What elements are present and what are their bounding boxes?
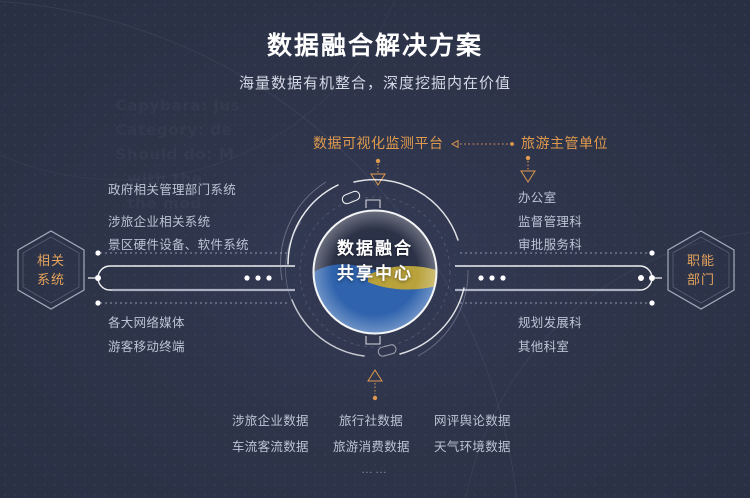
hexagon-related-systems[interactable]: 相关 系统: [14, 228, 88, 312]
center-rings-and-sphere: [268, 160, 482, 378]
left-item-2: 景区硬件设备、软件系统: [108, 234, 249, 253]
down-triangle-marker-authority: [521, 156, 535, 182]
bottom-item-r1c1: 涉旅企业数据: [232, 410, 309, 429]
label-visualization-platform: 数据可视化监测平台: [313, 133, 444, 153]
ring-notch-marker: [341, 190, 361, 205]
bottom-item-r1c2: 旅行社数据: [339, 410, 403, 429]
left-item-1: 涉旅企业相关系统: [108, 211, 210, 230]
right-item-1: 监督管理科: [518, 211, 582, 230]
bottom-ellipsis: ……: [0, 462, 750, 476]
page-subtitle: 海量数据有机整合，深度挖掘内在价值: [0, 72, 750, 93]
bottom-item-r2c3: 天气环境数据: [434, 436, 511, 455]
right-item-0: 办公室: [518, 187, 556, 206]
left-item-4: 游客移动终端: [108, 336, 185, 355]
hexagon-left-label: 相关 系统: [14, 228, 88, 312]
bottom-item-r1c3: 网评舆论数据: [434, 410, 511, 429]
page-title: 数据融合解决方案: [0, 26, 750, 62]
bottom-item-r2c1: 车流客流数据: [232, 436, 309, 455]
hexagon-right-label: 职能 部门: [664, 228, 738, 312]
dotted-left-arrow-icon: [451, 139, 515, 149]
infographic-canvas: Capybara: jus Category: de Should do: M …: [0, 0, 750, 498]
center-hub[interactable]: 数据融合 共享中心: [268, 160, 482, 378]
label-tourism-authority: 旅游主管单位: [521, 133, 608, 153]
right-item-3: 规划发展科: [518, 312, 582, 331]
hexagon-functional-departments[interactable]: 职能 部门: [664, 228, 738, 312]
right-item-4: 其他科室: [518, 336, 569, 355]
left-item-0: 政府相关管理部门系统: [108, 179, 236, 198]
right-item-2: 审批服务科: [518, 234, 582, 253]
left-item-3: 各大网络媒体: [108, 312, 185, 331]
bottom-item-r2c2: 旅游消费数据: [333, 436, 410, 455]
